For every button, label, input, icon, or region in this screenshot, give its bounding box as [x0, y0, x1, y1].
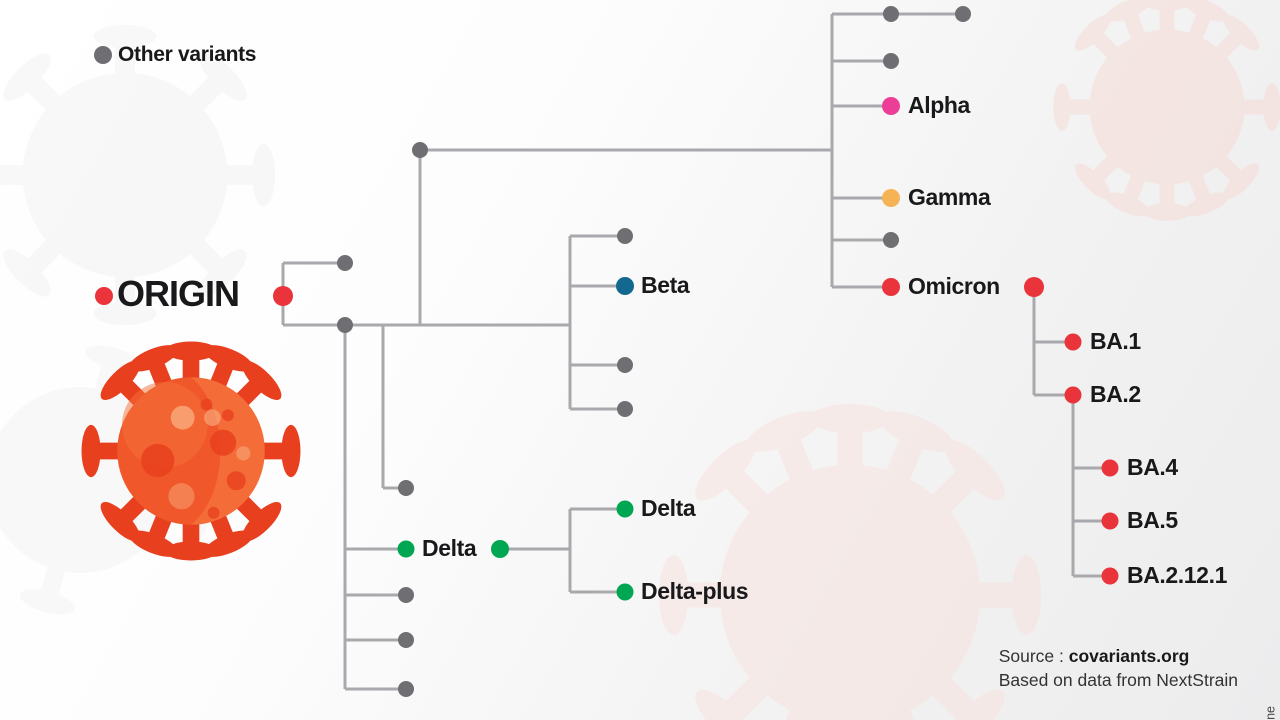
delta-right-dot[interactable] — [491, 540, 509, 558]
source-line-2: Based on data from NextStrain — [999, 668, 1238, 692]
variant-label-omicron: Omicron — [908, 275, 1000, 298]
named-variant-nodes — [398, 97, 1119, 601]
variant-node-ba1[interactable] — [1065, 334, 1082, 351]
variant-node-delta_plus[interactable] — [617, 584, 634, 601]
variant-label-ba2: BA.2 — [1090, 383, 1141, 406]
other-variant-node[interactable] — [337, 255, 353, 271]
other-variant-node[interactable] — [337, 317, 353, 333]
other-variant-node[interactable] — [617, 228, 633, 244]
other-variant-node[interactable] — [955, 6, 971, 22]
variant-node-ba2121[interactable] — [1102, 568, 1119, 585]
variant-label-ba4: BA.4 — [1127, 456, 1178, 479]
variant-label-beta: Beta — [641, 274, 689, 297]
other-variant-node[interactable] — [883, 232, 899, 248]
infographic-canvas: Other variants ORIGIN — [0, 0, 1280, 720]
source-line-1: Source : covariants.org — [999, 644, 1238, 668]
source-prefix: Source : — [999, 646, 1069, 666]
variant-node-delta_main[interactable] — [398, 541, 415, 558]
other-variant-node[interactable] — [412, 142, 428, 158]
variant-label-ba1: BA.1 — [1090, 330, 1141, 353]
other-variant-node[interactable] — [398, 681, 414, 697]
other-variant-node[interactable] — [398, 632, 414, 648]
variant-node-omicron[interactable] — [882, 278, 900, 296]
variant-label-delta_plus: Delta-plus — [641, 580, 748, 603]
origin-dot-left[interactable] — [95, 287, 113, 305]
variant-node-ba4[interactable] — [1102, 460, 1119, 477]
variant-node-delta_leaf[interactable] — [617, 501, 634, 518]
other-variant-node[interactable] — [398, 587, 414, 603]
origin-dot-right[interactable] — [273, 286, 293, 306]
other-variant-node[interactable] — [883, 53, 899, 69]
variant-label-ba5: BA.5 — [1127, 509, 1178, 532]
variant-label-delta_leaf: Delta — [641, 497, 695, 520]
other-variant-node[interactable] — [398, 480, 414, 496]
coronavirus-illustration — [72, 332, 310, 570]
source-name[interactable]: covariants.org — [1069, 646, 1190, 666]
omicron-right-dot[interactable] — [1024, 277, 1044, 297]
variant-node-alpha[interactable] — [882, 97, 900, 115]
variant-node-beta[interactable] — [616, 277, 634, 295]
other-variant-node[interactable] — [617, 401, 633, 417]
credit-text: Infographie : Eric Antoine — [1264, 706, 1278, 720]
other-variant-node[interactable] — [617, 357, 633, 373]
variant-label-alpha: Alpha — [908, 94, 970, 117]
variant-node-gamma[interactable] — [882, 189, 900, 207]
variant-node-ba2[interactable] — [1065, 387, 1082, 404]
legend-dot[interactable] — [94, 46, 112, 64]
source-block: Source : covariants.org Based on data fr… — [999, 644, 1238, 692]
variant-node-ba5[interactable] — [1102, 513, 1119, 530]
variant-label-gamma: Gamma — [908, 186, 990, 209]
other-variant-node[interactable] — [883, 6, 899, 22]
variant-label-ba2121: BA.2.12.1 — [1127, 564, 1227, 587]
legend-label: Other variants — [118, 44, 256, 65]
origin-label: ORIGIN — [117, 276, 239, 312]
variant-label-delta_main: Delta — [422, 537, 476, 560]
